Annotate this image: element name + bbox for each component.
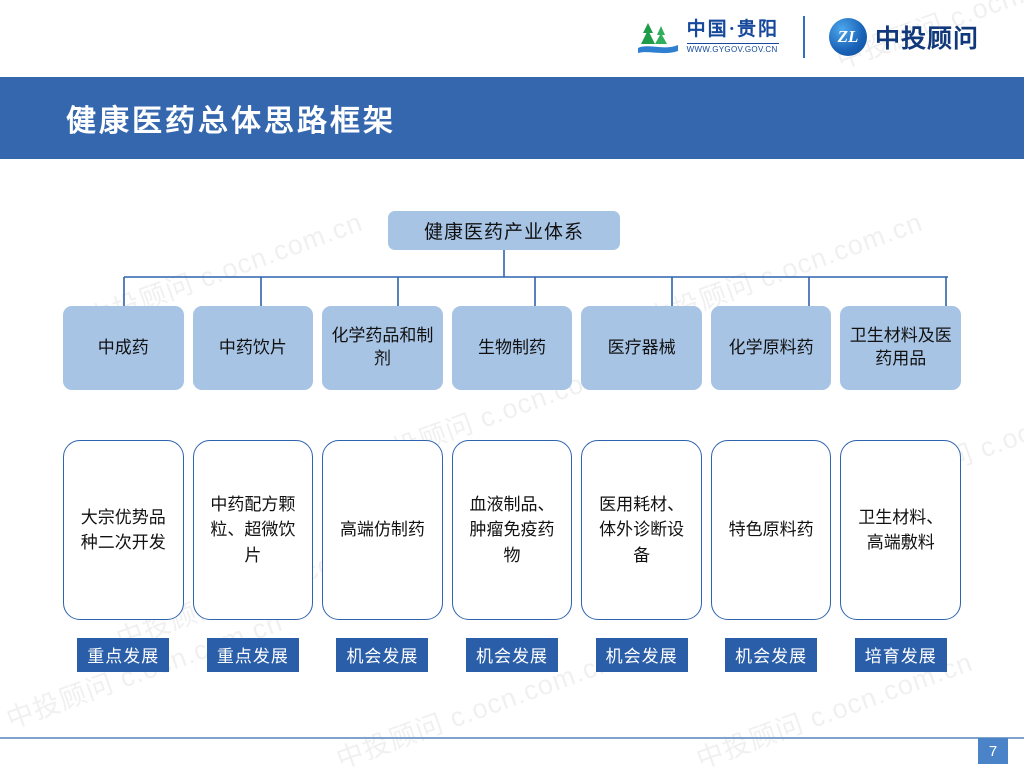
gov-url: WWW.GYGOV.GOV.CN	[687, 43, 779, 54]
guiyang-logo-text: 中国·贵阳 WWW.GYGOV.GOV.CN	[687, 20, 779, 54]
strategy-tag-1[interactable]: 重点发展	[207, 638, 299, 672]
detail-node-1[interactable]: 中药配方颗粒、超微饮片	[193, 440, 314, 620]
detail-node-4[interactable]: 医用耗材、体外诊断设备	[581, 440, 702, 620]
strategy-cell-3: 机会发展	[452, 639, 573, 671]
page-title: 健康医药总体思路框架	[66, 96, 396, 140]
category-node-1[interactable]: 中药饮片	[193, 306, 314, 390]
category-node-4[interactable]: 医疗器械	[581, 306, 702, 390]
slide: 中投顾问 c.ocn.com.cn 中投顾问 c.ocn.com.cn 中投顾问…	[0, 0, 1024, 768]
strategy-cell-0: 重点发展	[63, 639, 184, 671]
category-node-2[interactable]: 化学药品和制剂	[322, 306, 443, 390]
detail-node-6[interactable]: 卫生材料、高端敷料	[840, 440, 961, 620]
detail-node-2[interactable]: 高端仿制药	[322, 440, 443, 620]
firm-name: 中投顾问	[875, 19, 979, 55]
ocn-firm-logo: 中投顾问	[829, 18, 979, 56]
strategy-tag-4[interactable]: 机会发展	[596, 638, 688, 672]
logo-divider	[803, 16, 805, 58]
strategy-cell-2: 机会发展	[322, 639, 443, 671]
root-node[interactable]: 健康医药产业体系	[388, 211, 620, 250]
strategy-tag-2[interactable]: 机会发展	[336, 638, 428, 672]
category-node-6[interactable]: 卫生材料及医药用品	[840, 306, 961, 390]
detail-node-3[interactable]: 血液制品、肿瘤免疫药物	[452, 440, 573, 620]
detail-node-5[interactable]: 特色原料药	[711, 440, 832, 620]
strategy-tag-6[interactable]: 培育发展	[855, 638, 947, 672]
detail-row: 大宗优势品种二次开发 中药配方颗粒、超微饮片 高端仿制药 血液制品、肿瘤免疫药物…	[63, 440, 961, 620]
logo-strip: 中国·贵阳 WWW.GYGOV.GOV.CN 中投顾问	[0, 0, 1024, 74]
category-node-5[interactable]: 化学原料药	[711, 306, 832, 390]
title-band: 健康医药总体思路框架	[0, 77, 1024, 159]
strategy-cell-6: 培育发展	[840, 639, 961, 671]
category-node-3[interactable]: 生物制药	[452, 306, 573, 390]
guiyang-gov-logo: 中国·贵阳 WWW.GYGOV.GOV.CN	[636, 17, 779, 57]
strategy-tag-3[interactable]: 机会发展	[466, 638, 558, 672]
category-row: 中成药 中药饮片 化学药品和制剂 生物制药 医疗器械 化学原料药 卫生材料及医药…	[63, 306, 961, 390]
category-node-0[interactable]: 中成药	[63, 306, 184, 390]
strategy-tag-5[interactable]: 机会发展	[725, 638, 817, 672]
logo-group: 中国·贵阳 WWW.GYGOV.GOV.CN 中投顾问	[636, 16, 979, 58]
strategy-cell-4: 机会发展	[581, 639, 702, 671]
guiyang-emblem-icon	[636, 17, 680, 57]
detail-node-0[interactable]: 大宗优势品种二次开发	[63, 440, 184, 620]
diagram-canvas: 健康医药产业体系 中成药 中药饮片 化学药品和制剂 生物制药 医疗器械 化学原料…	[0, 159, 1024, 734]
gov-name: 中国·贵阳	[687, 20, 779, 39]
page-number: 7	[978, 738, 1008, 764]
strategy-tag-row: 重点发展 重点发展 机会发展 机会发展 机会发展 机会发展 培育发展	[63, 639, 961, 671]
strategy-cell-5: 机会发展	[711, 639, 832, 671]
footer-rule	[0, 737, 1024, 739]
ocn-emblem-icon	[829, 18, 867, 56]
strategy-tag-0[interactable]: 重点发展	[77, 638, 169, 672]
strategy-cell-1: 重点发展	[193, 639, 314, 671]
